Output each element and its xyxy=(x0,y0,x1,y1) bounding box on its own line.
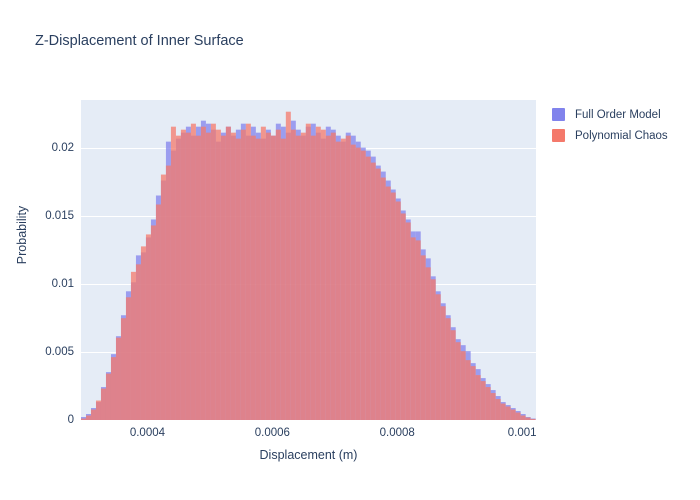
legend-item[interactable]: Full Order Model xyxy=(552,105,692,124)
histogram-bar xyxy=(86,416,91,420)
legend: Full Order ModelPolynomial Chaos xyxy=(552,105,692,147)
histogram-bar xyxy=(526,418,531,420)
histogram-bar xyxy=(111,357,116,420)
histogram-bar xyxy=(246,124,251,420)
histogram-bar xyxy=(501,404,506,420)
histogram-bar xyxy=(101,389,106,420)
histogram-bar xyxy=(286,112,291,420)
histogram-bar xyxy=(461,351,466,420)
x-tick-label: 0.0006 xyxy=(255,427,290,439)
histogram-bar xyxy=(151,225,156,420)
histogram-bar xyxy=(361,151,366,420)
histogram-bar xyxy=(271,136,276,420)
histogram-bar xyxy=(276,130,281,420)
legend-swatch-icon xyxy=(552,129,565,142)
histogram-bar xyxy=(316,127,321,420)
histogram-bar xyxy=(141,246,146,420)
y-tick-label: 0 xyxy=(68,414,74,426)
histogram-bar xyxy=(346,136,351,420)
histogram-bar xyxy=(441,306,446,420)
x-tick-label: 0.0008 xyxy=(380,427,415,439)
histogram-bar xyxy=(341,139,346,420)
histogram-bar xyxy=(256,139,261,420)
histogram-bars xyxy=(81,100,536,420)
histogram-bar xyxy=(401,213,406,420)
histogram-bar xyxy=(296,136,301,420)
histogram-bar xyxy=(406,222,411,420)
histogram-bar xyxy=(491,393,496,420)
x-axis-title: Displacement (m) xyxy=(81,448,536,462)
histogram-bar xyxy=(201,127,206,420)
y-axis-title: Probability xyxy=(15,175,29,295)
chart-container: Z-Displacement of Inner Surface 00.0050.… xyxy=(0,0,700,500)
histogram-bar xyxy=(81,419,86,421)
histogram-bar xyxy=(156,204,161,420)
histogram-bar xyxy=(511,410,516,420)
histogram-bar xyxy=(216,130,221,420)
histogram-bar xyxy=(516,413,521,420)
x-axis-ticks: 0.00040.00060.00080.001 xyxy=(81,427,536,445)
histogram-bar xyxy=(481,381,486,420)
histogram-bar xyxy=(301,133,306,420)
y-axis-ticks: 00.0050.010.0150.02 xyxy=(0,100,74,420)
histogram-bar xyxy=(486,387,491,420)
y-tick-label: 0.01 xyxy=(52,278,74,290)
histogram-bar xyxy=(291,130,296,420)
histogram-bar xyxy=(136,264,141,420)
histogram-bar xyxy=(311,136,316,420)
histogram-bar xyxy=(241,130,246,420)
histogram-bar xyxy=(251,136,256,420)
series-polynomial-chaos xyxy=(81,112,536,420)
histogram-bar xyxy=(321,130,326,420)
y-tick-label: 0.015 xyxy=(45,210,74,222)
histogram-bar xyxy=(391,193,396,420)
histogram-bar xyxy=(226,127,231,420)
plot-area xyxy=(81,100,536,420)
histogram-bar xyxy=(456,342,461,420)
histogram-bar xyxy=(421,255,426,420)
x-tick-label: 0.0004 xyxy=(130,427,165,439)
histogram-bar xyxy=(176,136,181,420)
histogram-bar xyxy=(221,136,226,420)
histogram-bar xyxy=(331,133,336,420)
y-tick-label: 0.02 xyxy=(52,142,74,154)
histogram-bar xyxy=(206,133,211,420)
histogram-bar xyxy=(211,124,216,420)
histogram-bar xyxy=(261,127,266,420)
histogram-bar xyxy=(306,124,311,420)
histogram-bar xyxy=(521,416,526,420)
histogram-bar xyxy=(356,148,361,420)
histogram-bar xyxy=(166,166,171,420)
histogram-bar xyxy=(336,142,341,420)
histogram-bar xyxy=(96,401,101,420)
x-tick-label: 0.001 xyxy=(508,427,537,439)
legend-item-label: Polynomial Chaos xyxy=(575,130,668,142)
histogram-bar xyxy=(436,294,441,420)
histogram-bar xyxy=(231,133,236,420)
legend-item[interactable]: Polynomial Chaos xyxy=(552,126,692,145)
histogram-bar xyxy=(121,318,126,420)
histogram-bar xyxy=(106,374,111,420)
histogram-bar xyxy=(131,272,136,420)
histogram-bar xyxy=(411,237,416,420)
histogram-bar xyxy=(476,375,481,420)
histogram-bar xyxy=(396,202,401,421)
histogram-bar xyxy=(126,297,131,420)
histogram-bar xyxy=(351,145,356,420)
histogram-bar xyxy=(266,133,271,420)
histogram-bar xyxy=(91,410,96,420)
histogram-bar xyxy=(416,240,421,420)
histogram-bar xyxy=(171,127,176,420)
histogram-bar xyxy=(191,124,196,420)
histogram-bar xyxy=(281,139,286,420)
histogram-bar xyxy=(506,407,511,420)
histogram-bar xyxy=(446,318,451,420)
histogram-bar xyxy=(186,133,191,420)
histogram-bar xyxy=(161,175,166,420)
histogram-bar xyxy=(386,187,391,420)
gridline-y xyxy=(81,420,536,421)
histogram-bar xyxy=(426,267,431,420)
histogram-bar xyxy=(376,169,381,420)
legend-swatch-icon xyxy=(552,108,565,121)
histogram-bar xyxy=(371,163,376,420)
histogram-bar xyxy=(236,139,241,420)
histogram-bar xyxy=(471,366,476,420)
histogram-bar xyxy=(146,234,151,420)
y-tick-label: 0.005 xyxy=(45,346,74,358)
histogram-bar xyxy=(431,279,436,420)
histogram-bar xyxy=(116,338,121,420)
histogram-bar xyxy=(181,130,186,420)
histogram-bar xyxy=(196,136,201,420)
chart-title: Z-Displacement of Inner Surface xyxy=(35,33,244,49)
histogram-bar xyxy=(531,419,536,420)
histogram-bar xyxy=(496,399,501,420)
histogram-bar xyxy=(451,330,456,420)
legend-item-label: Full Order Model xyxy=(575,109,661,121)
histogram-bar xyxy=(366,157,371,420)
histogram-bar xyxy=(326,136,331,420)
histogram-bar xyxy=(381,178,386,420)
histogram-bar xyxy=(466,360,471,420)
